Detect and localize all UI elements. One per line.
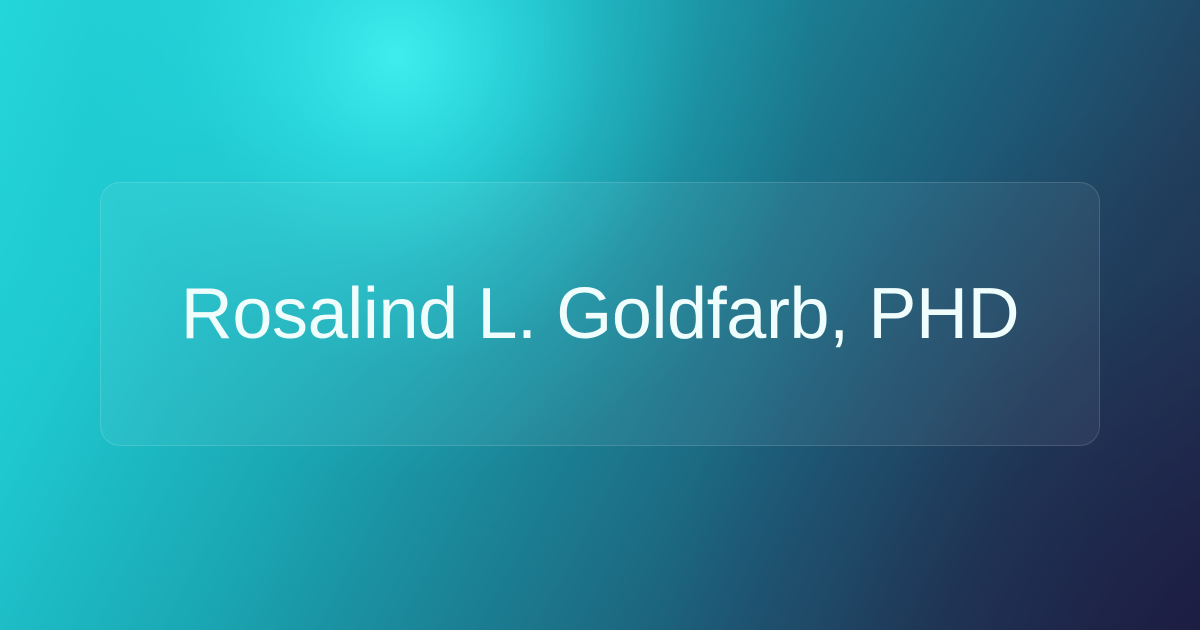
- headline-card: Rosalind L. Goldfarb, PHD: [100, 182, 1100, 446]
- banner-canvas: Rosalind L. Goldfarb, PHD: [0, 0, 1200, 630]
- page-title: Rosalind L. Goldfarb, PHD: [181, 273, 1019, 355]
